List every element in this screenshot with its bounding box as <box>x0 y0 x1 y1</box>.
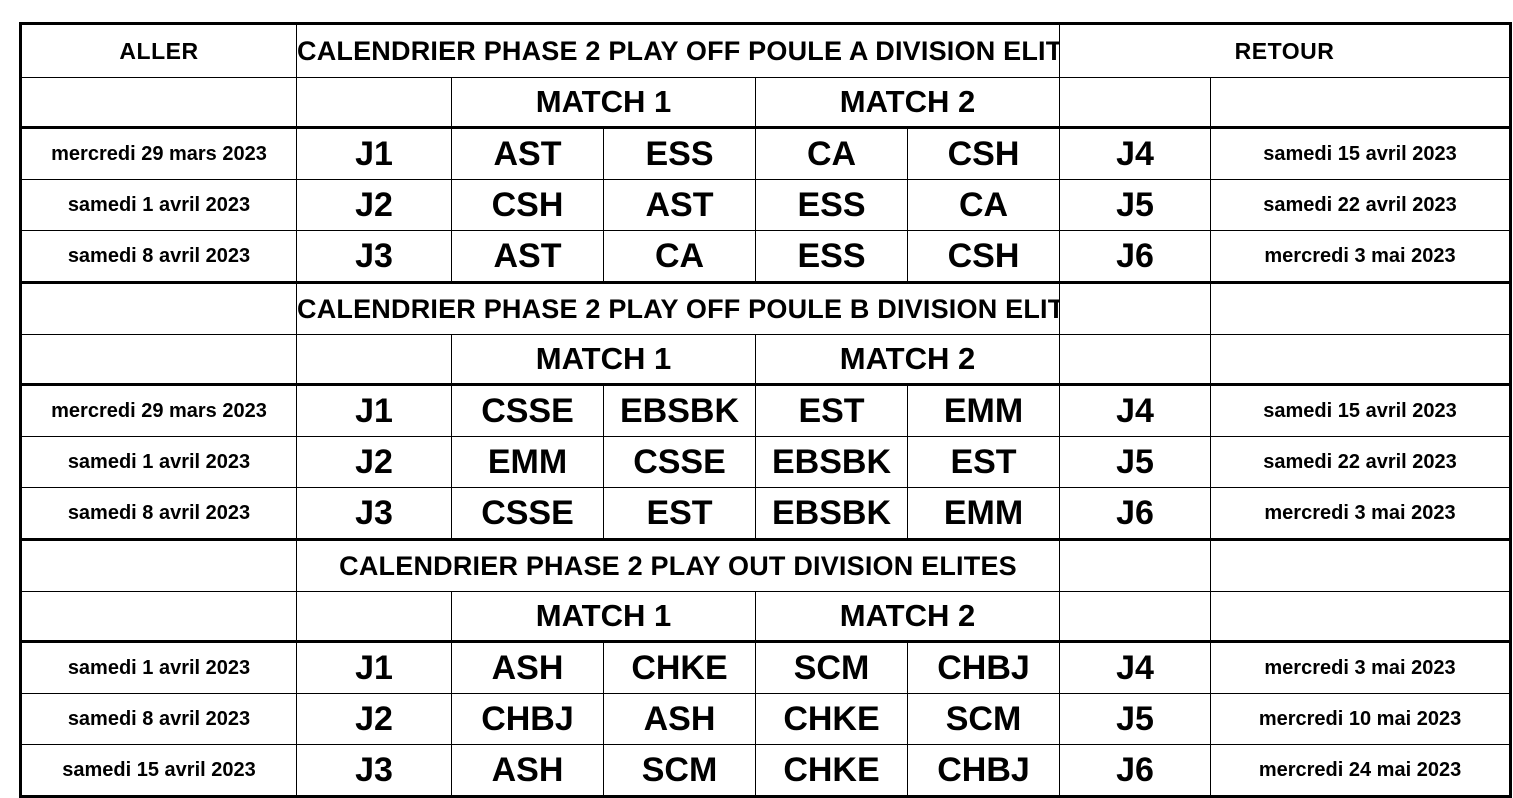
jday-retour: J6 <box>1060 488 1211 540</box>
match1-away-team: ESS <box>604 128 756 180</box>
date-aller: samedi 8 avril 2023 <box>21 488 297 540</box>
match2-label: MATCH 2 <box>756 335 1060 385</box>
match1-away-team: CA <box>604 231 756 283</box>
match2-away-team: CSH <box>908 128 1060 180</box>
jday-aller: J3 <box>297 231 452 283</box>
jday-aller: J2 <box>297 694 452 745</box>
spacer-left <box>21 78 297 128</box>
jday-retour: J6 <box>1060 231 1211 283</box>
match1-home-team: AST <box>452 128 604 180</box>
spacer-jday-right <box>1060 592 1211 642</box>
date-retour: mercredi 24 mai 2023 <box>1211 745 1511 797</box>
date-retour: mercredi 3 mai 2023 <box>1211 642 1511 694</box>
match2-home-team: EBSBK <box>756 488 908 540</box>
match2-away-team: CHBJ <box>908 642 1060 694</box>
section-title-poule-b: CALENDRIER PHASE 2 PLAY OFF POULE B DIVI… <box>297 283 1060 335</box>
match1-away-team: SCM <box>604 745 756 797</box>
jday-aller: J1 <box>297 385 452 437</box>
match2-away-team: SCM <box>908 694 1060 745</box>
spacer-jday-left <box>297 592 452 642</box>
match1-home-team: CHBJ <box>452 694 604 745</box>
match1-home-team: CSSE <box>452 488 604 540</box>
match1-home-team: AST <box>452 231 604 283</box>
match1-away-team: CHKE <box>604 642 756 694</box>
date-retour: samedi 15 avril 2023 <box>1211 128 1511 180</box>
match1-away-team: AST <box>604 180 756 231</box>
match2-label: MATCH 2 <box>756 592 1060 642</box>
fixture-row: samedi 15 avril 2023J3ASHSCMCHKECHBJJ6me… <box>21 745 1511 797</box>
spacer-right <box>1211 78 1511 128</box>
date-aller: samedi 1 avril 2023 <box>21 180 297 231</box>
match2-home-team: ESS <box>756 180 908 231</box>
section-title-row: CALENDRIER PHASE 2 PLAY OUT DIVISION ELI… <box>21 540 1511 592</box>
date-aller: samedi 1 avril 2023 <box>21 437 297 488</box>
match2-away-team: EMM <box>908 488 1060 540</box>
spacer-left <box>21 540 297 592</box>
date-aller: mercredi 29 mars 2023 <box>21 128 297 180</box>
jday-retour: J4 <box>1060 642 1211 694</box>
fixture-row: samedi 8 avril 2023J3ASTCAESSCSHJ6mercre… <box>21 231 1511 283</box>
spacer-right <box>1211 592 1511 642</box>
match2-home-team: SCM <box>756 642 908 694</box>
match-label-row: MATCH 1MATCH 2 <box>21 335 1511 385</box>
date-retour: mercredi 3 mai 2023 <box>1211 231 1511 283</box>
match1-away-team: CSSE <box>604 437 756 488</box>
fixture-row: samedi 8 avril 2023J3CSSEESTEBSBKEMMJ6me… <box>21 488 1511 540</box>
jday-aller: J2 <box>297 437 452 488</box>
section-title-poule-a: CALENDRIER PHASE 2 PLAY OFF POULE A DIVI… <box>297 24 1060 78</box>
fixture-row: mercredi 29 mars 2023J1CSSEEBSBKESTEMMJ4… <box>21 385 1511 437</box>
match1-home-team: CSH <box>452 180 604 231</box>
date-retour: samedi 22 avril 2023 <box>1211 180 1511 231</box>
match-label-row: MATCH 1MATCH 2 <box>21 592 1511 642</box>
section-title-row: CALENDRIER PHASE 2 PLAY OFF POULE B DIVI… <box>21 283 1511 335</box>
match-label-row: MATCH 1MATCH 2 <box>21 78 1511 128</box>
spacer-right <box>1211 283 1511 335</box>
jday-retour: J5 <box>1060 180 1211 231</box>
date-aller: samedi 15 avril 2023 <box>21 745 297 797</box>
date-retour: samedi 15 avril 2023 <box>1211 385 1511 437</box>
match1-home-team: ASH <box>452 745 604 797</box>
section-title-play-out: CALENDRIER PHASE 2 PLAY OUT DIVISION ELI… <box>297 540 1060 592</box>
match2-away-team: CHBJ <box>908 745 1060 797</box>
fixture-row: samedi 8 avril 2023J2CHBJASHCHKESCMJ5mer… <box>21 694 1511 745</box>
match2-home-team: CHKE <box>756 745 908 797</box>
jday-aller: J1 <box>297 128 452 180</box>
match1-home-team: CSSE <box>452 385 604 437</box>
match1-label: MATCH 1 <box>452 592 756 642</box>
jday-retour: J6 <box>1060 745 1211 797</box>
date-retour: mercredi 3 mai 2023 <box>1211 488 1511 540</box>
jday-retour: J4 <box>1060 128 1211 180</box>
match2-away-team: EST <box>908 437 1060 488</box>
match2-home-team: EST <box>756 385 908 437</box>
match1-home-team: EMM <box>452 437 604 488</box>
match1-label: MATCH 1 <box>452 335 756 385</box>
spacer-jday-right <box>1060 283 1211 335</box>
spacer-jday-left <box>297 78 452 128</box>
spacer-jday-left <box>297 335 452 385</box>
match2-away-team: EMM <box>908 385 1060 437</box>
fixture-row: samedi 1 avril 2023J2CSHASTESSCAJ5samedi… <box>21 180 1511 231</box>
fixture-row: mercredi 29 mars 2023J1ASTESSCACSHJ4same… <box>21 128 1511 180</box>
top-header-row: ALLERCALENDRIER PHASE 2 PLAY OFF POULE A… <box>21 24 1511 78</box>
match2-label: MATCH 2 <box>756 78 1060 128</box>
date-aller: mercredi 29 mars 2023 <box>21 385 297 437</box>
match1-home-team: ASH <box>452 642 604 694</box>
fixture-row: samedi 1 avril 2023J1ASHCHKESCMCHBJJ4mer… <box>21 642 1511 694</box>
match2-away-team: CA <box>908 180 1060 231</box>
match2-home-team: CA <box>756 128 908 180</box>
match1-label: MATCH 1 <box>452 78 756 128</box>
spacer-left <box>21 283 297 335</box>
match1-away-team: ASH <box>604 694 756 745</box>
match1-away-team: EST <box>604 488 756 540</box>
date-aller: samedi 8 avril 2023 <box>21 694 297 745</box>
match2-home-team: ESS <box>756 231 908 283</box>
jday-aller: J3 <box>297 745 452 797</box>
calendar-sheet: ALLERCALENDRIER PHASE 2 PLAY OFF POULE A… <box>0 22 1513 798</box>
fixture-row: samedi 1 avril 2023J2EMMCSSEEBSBKESTJ5sa… <box>21 437 1511 488</box>
spacer-right <box>1211 540 1511 592</box>
date-aller: samedi 8 avril 2023 <box>21 231 297 283</box>
date-aller: samedi 1 avril 2023 <box>21 642 297 694</box>
retour-header: RETOUR <box>1060 24 1511 78</box>
spacer-left <box>21 592 297 642</box>
jday-aller: J3 <box>297 488 452 540</box>
aller-header: ALLER <box>21 24 297 78</box>
date-retour: samedi 22 avril 2023 <box>1211 437 1511 488</box>
match2-home-team: EBSBK <box>756 437 908 488</box>
spacer-jday-right <box>1060 540 1211 592</box>
spacer-jday-right <box>1060 78 1211 128</box>
match2-away-team: CSH <box>908 231 1060 283</box>
spacer-left <box>21 335 297 385</box>
jday-aller: J2 <box>297 180 452 231</box>
spacer-jday-right <box>1060 335 1211 385</box>
match2-home-team: CHKE <box>756 694 908 745</box>
spacer-right <box>1211 335 1511 385</box>
jday-retour: J4 <box>1060 385 1211 437</box>
date-retour: mercredi 10 mai 2023 <box>1211 694 1511 745</box>
match1-away-team: EBSBK <box>604 385 756 437</box>
jday-retour: J5 <box>1060 694 1211 745</box>
jday-retour: J5 <box>1060 437 1211 488</box>
calendar-table: ALLERCALENDRIER PHASE 2 PLAY OFF POULE A… <box>19 22 1512 798</box>
jday-aller: J1 <box>297 642 452 694</box>
